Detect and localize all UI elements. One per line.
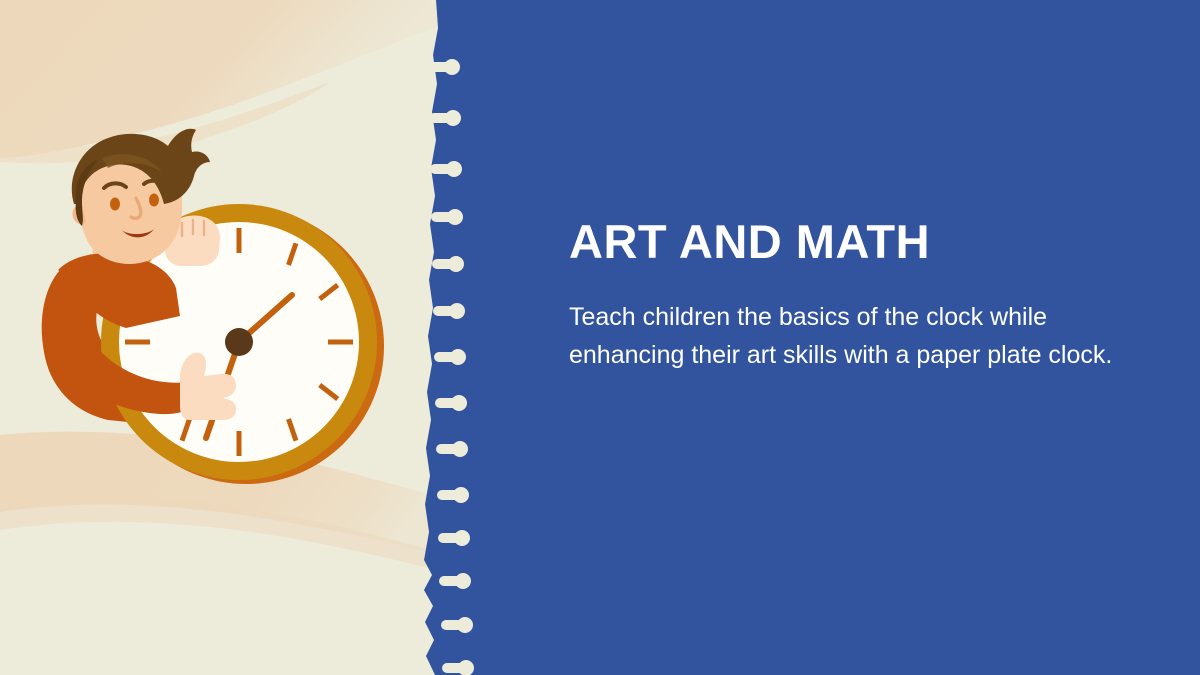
- illustration-svg: [30, 120, 430, 520]
- boy-eye-right: [149, 194, 159, 207]
- slide-root: ART AND MATH Teach children the basics o…: [0, 0, 1200, 675]
- slide-title: ART AND MATH: [569, 216, 1129, 268]
- slide-body-text: Teach children the basics of the clock w…: [569, 298, 1114, 376]
- boy-holding-clock-illustration: [30, 120, 430, 520]
- text-column: ART AND MATH Teach children the basics o…: [569, 216, 1129, 375]
- clock-center-hub: [225, 328, 253, 356]
- boy-eye-left: [110, 198, 120, 211]
